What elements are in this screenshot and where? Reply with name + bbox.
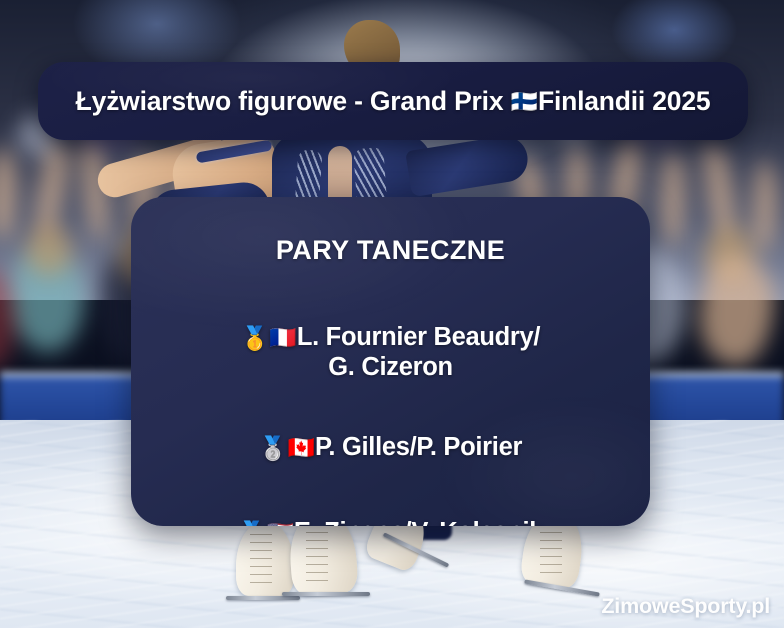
event-title-suffix: Finlandii 2025 (538, 86, 710, 116)
canada-flag-icon: 🇨🇦 (288, 435, 315, 460)
france-flag-icon: 🇫🇷 (269, 325, 296, 350)
event-title-banner: Łyżwiarstwo figurowe - Grand Prix 🇫🇮Finl… (38, 62, 748, 140)
podium-list: 🥇🇫🇷L. Fournier Beaudry/ G. Cizeron 🥈🇨🇦P.… (157, 292, 624, 526)
site-watermark: ZimoweSporty.pl (601, 594, 770, 619)
poster-canvas: Łyżwiarstwo figurowe - Grand Prix 🇫🇮Finl… (0, 0, 784, 628)
discipline-heading: PARY TANECZNE (157, 235, 624, 266)
athlete-names-2: P. Gilles/P. Poirier (315, 433, 522, 461)
athlete-names-3: E. Zingas/V. Kolesnik (294, 518, 543, 526)
athlete-names-1: L. Fournier Beaudry/ G. Cizeron (297, 323, 540, 381)
silver-medal-icon: 🥈 (259, 435, 288, 461)
usa-flag-icon: 🇺🇸 (266, 520, 293, 526)
bronze-medal-icon: 🥉 (238, 520, 267, 526)
podium-entry-2: 🥈🇨🇦P. Gilles/P. Poirier (157, 402, 624, 462)
lead-arm (405, 133, 531, 197)
gold-medal-icon: 🥇 (241, 325, 270, 351)
event-title: Łyżwiarstwo figurowe - Grand Prix 🇫🇮Finl… (76, 86, 711, 117)
finland-flag-icon: 🇫🇮 (511, 89, 538, 114)
event-title-prefix: Łyżwiarstwo figurowe - Grand Prix (76, 86, 511, 116)
podium-entry-3: 🥉🇺🇸E. Zingas/V. Kolesnik (157, 486, 624, 526)
podium-entry-1: 🥇🇫🇷L. Fournier Beaudry/ G. Cizeron (157, 292, 624, 382)
results-card: PARY TANECZNE 🥇🇫🇷L. Fournier Beaudry/ G.… (131, 197, 650, 526)
